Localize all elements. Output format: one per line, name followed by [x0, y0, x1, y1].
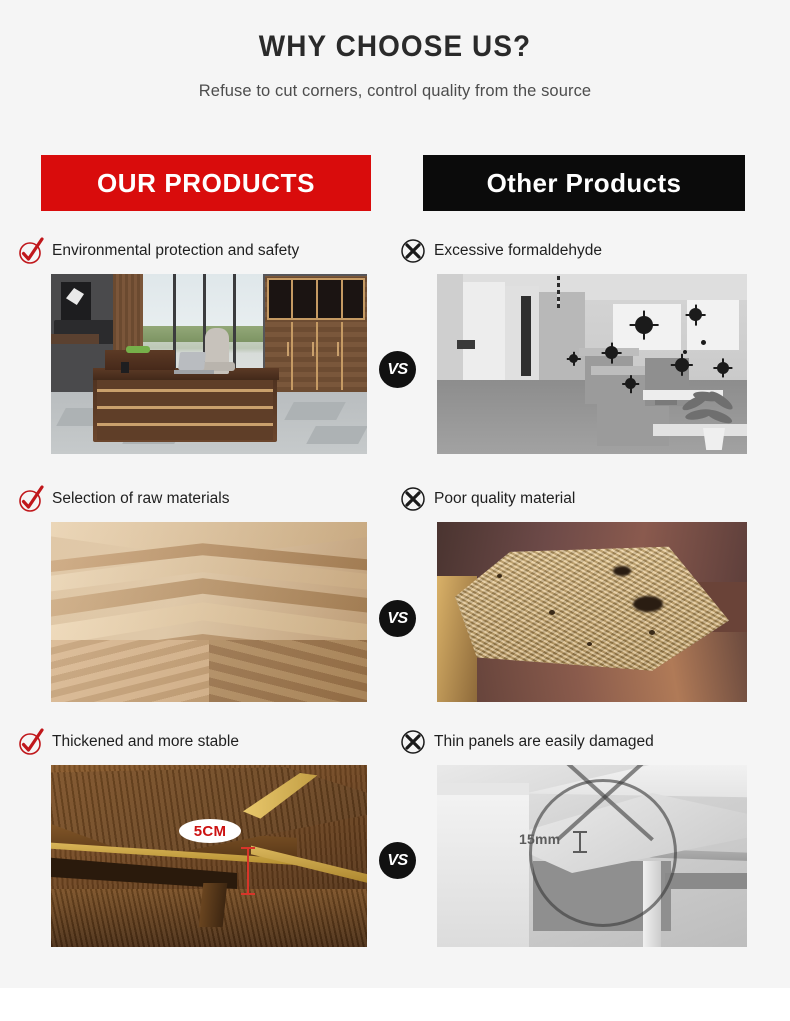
- other-product-cell: Excessive formaldehyde: [400, 236, 760, 454]
- virus-particle-icon: [625, 378, 636, 389]
- feature-header: Selection of raw materials: [18, 484, 378, 514]
- feature-header: Poor quality material: [400, 484, 760, 514]
- feature-label: Thin panels are easily damaged: [434, 733, 654, 751]
- banner-our-products: OUR PRODUCTS: [41, 155, 371, 211]
- product-photo-rotten-board: [437, 522, 747, 702]
- virus-particle-icon: [635, 316, 653, 334]
- product-photo-germ-office: [437, 274, 747, 454]
- our-product-cell: Selection of raw materials: [18, 484, 378, 702]
- thickness-badge-5cm: 5CM: [179, 819, 241, 843]
- page-title: WHY CHOOSE US?: [28, 30, 763, 64]
- product-photo-thick-desk: 5CM: [51, 765, 367, 947]
- our-product-cell: Thickened and more stable 5CM: [18, 727, 378, 947]
- banner-other-products-label: Other Products: [487, 168, 682, 199]
- check-circle-icon: [18, 237, 44, 265]
- feature-label: Thickened and more stable: [52, 733, 239, 751]
- our-product-cell: Environmental protection and safety: [18, 236, 378, 454]
- measurement-line: [579, 831, 581, 853]
- x-circle-icon: [400, 729, 426, 755]
- product-photo-office-desk: [51, 274, 367, 454]
- page-subtitle: Refuse to cut corners, control quality f…: [0, 82, 790, 101]
- product-photo-mdf-stack: [51, 522, 367, 702]
- feature-header: Thin panels are easily damaged: [400, 727, 760, 757]
- measurement-line: [247, 847, 249, 895]
- thickness-label-15mm: 15mm: [519, 831, 560, 847]
- feature-header: Thickened and more stable: [18, 727, 378, 757]
- plant-decor: [685, 392, 741, 450]
- feature-header: Excessive formaldehyde: [400, 236, 760, 266]
- feature-label: Environmental protection and safety: [52, 242, 299, 260]
- virus-particle-icon: [569, 354, 578, 363]
- virus-particle-icon: [717, 362, 729, 374]
- feature-label: Selection of raw materials: [52, 490, 229, 508]
- other-product-cell: Thin panels are easily damaged 15mm: [400, 727, 760, 947]
- feature-header: Environmental protection and safety: [18, 236, 378, 266]
- check-circle-icon: [18, 728, 44, 756]
- virus-particle-icon: [605, 346, 618, 359]
- product-photo-thin-panel: 15mm: [437, 765, 747, 947]
- comparison-infographic: WHY CHOOSE US? Refuse to cut corners, co…: [0, 0, 790, 1021]
- banner-other-products: Other Products: [423, 155, 745, 211]
- banner-our-products-label: OUR PRODUCTS: [97, 168, 315, 199]
- virus-particle-icon: [689, 308, 702, 321]
- x-circle-icon: [400, 238, 426, 264]
- virus-particle-icon: [675, 358, 689, 372]
- x-circle-icon: [400, 486, 426, 512]
- feature-label: Excessive formaldehyde: [434, 242, 602, 260]
- other-product-cell: Poor quality material: [400, 484, 760, 702]
- feature-label: Poor quality material: [434, 490, 575, 508]
- check-circle-icon: [18, 485, 44, 513]
